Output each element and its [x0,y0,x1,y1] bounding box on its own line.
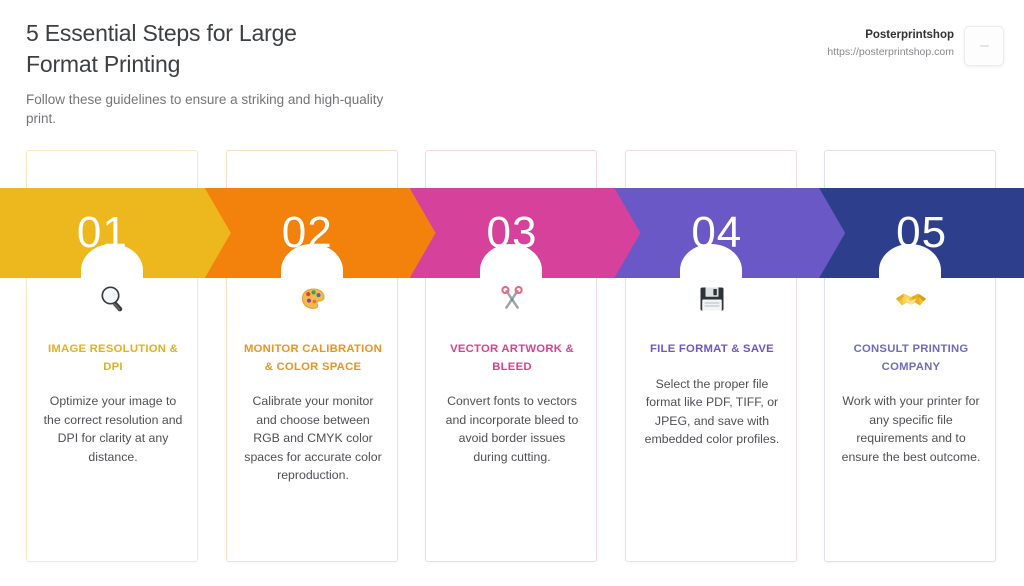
infographic-canvas: 5 Essential Steps for Large Format Print… [0,0,1024,586]
brand-block: Posterprintshop https://posterprintshop.… [827,26,1004,66]
step-card-description: Select the proper file format like PDF, … [638,375,786,449]
artist-palette-icon [239,279,387,319]
step-card-title: VECTOR ARTWORK & BLEED [438,341,586,376]
brand-name: Posterprintshop [827,28,954,43]
step-card-title: FILE FORMAT & SAVE [638,341,786,359]
header: 5 Essential Steps for Large Format Print… [0,0,1024,150]
brand-url[interactable]: https://posterprintshop.com [827,45,954,60]
step-card-title: IMAGE RESOLUTION & DPI [39,341,187,376]
image-placeholder-icon [980,45,989,47]
step-card-body: CONSULT PRINTING COMPANYWork with your p… [825,279,996,466]
brand-text: Posterprintshop https://posterprintshop.… [827,26,954,60]
step-card-description: Calibrate your monitor and choose betwee… [239,392,387,485]
page-title-line2: Format Printing [26,49,446,80]
page-title-line1: 5 Essential Steps for Large [26,18,446,49]
page-title: 5 Essential Steps for Large Format Print… [26,18,446,80]
magnifying-glass-icon [39,279,187,319]
title-block: 5 Essential Steps for Large Format Print… [26,18,446,128]
floppy-disk-icon [638,279,786,319]
brand-logo-placeholder [964,26,1004,66]
step-card-description: Convert fonts to vectors and incorporate… [438,392,586,466]
step-card-body: IMAGE RESOLUTION & DPIOptimize your imag… [27,279,198,466]
scissors-icon [438,279,586,319]
step-card-body: MONITOR CALIBRATION & COLOR SPACECalibra… [227,279,398,485]
handshake-icon [837,279,985,319]
step-card-description: Work with your printer for any specific … [837,392,985,466]
step-card-title: MONITOR CALIBRATION & COLOR SPACE [239,341,387,376]
step-card-description: Optimize your image to the correct resol… [39,392,187,466]
step-card-title: CONSULT PRINTING COMPANY [837,341,985,376]
page-subtitle: Follow these guidelines to ensure a stri… [26,90,386,128]
step-card-body: FILE FORMAT & SAVESelect the proper file… [626,279,797,449]
step-card-body: VECTOR ARTWORK & BLEEDConvert fonts to v… [426,279,597,466]
